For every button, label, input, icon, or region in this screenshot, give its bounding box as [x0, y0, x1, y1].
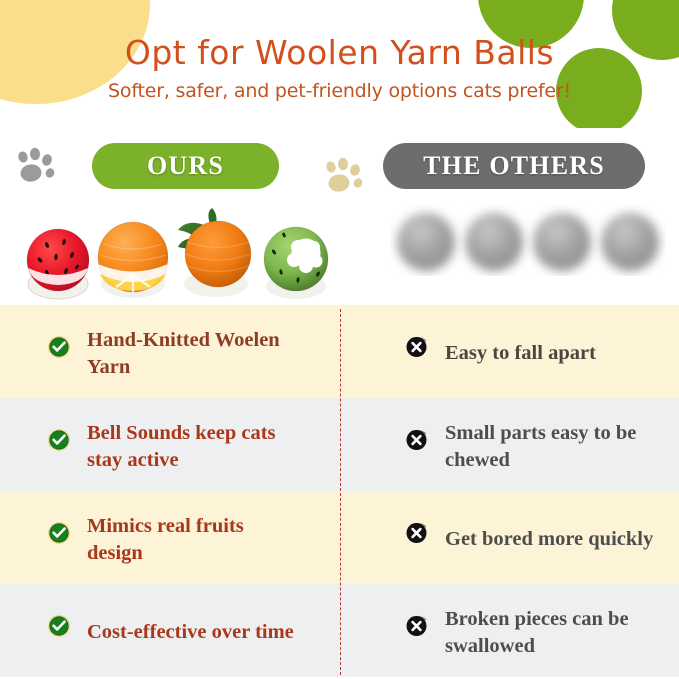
ours-cell: Mimics real fruits design [0, 491, 340, 584]
ours-cell: Bell Sounds keep cats stay active [0, 398, 340, 491]
cross-circle-icon [404, 333, 430, 359]
pumpkin-yarn-ball [166, 204, 262, 300]
page-title: Opt for Woolen Yarn Balls [125, 35, 554, 71]
ours-cell-text: Mimics real fruits design [87, 513, 302, 565]
paw-print-icon-left [14, 146, 60, 193]
others-cell-text: Small parts easy to be chewed [445, 420, 660, 472]
others-product-images [390, 204, 660, 276]
cross-circle-icon [404, 519, 430, 545]
cross-circle-icon [404, 426, 430, 452]
badge-ours: OURS [92, 143, 279, 189]
header-text-group: Opt for Woolen Yarn Balls Softer, safer,… [0, 0, 679, 128]
ours-cell: Cost-effective over time [0, 584, 340, 677]
blurred-gray-ball-3 [526, 204, 598, 276]
others-cell: Broken pieces can be swallowed [340, 584, 679, 677]
product-comparison-band: OURS THE OTHERS [0, 128, 679, 305]
badge-the-others: THE OTHERS [383, 143, 645, 189]
ours-cell: Hand-Knitted Woelen Yarn [0, 305, 340, 398]
paw-print-icon-right [322, 156, 368, 203]
comparison-table: Hand-Knitted Woelen Yarn Easy to fall ap… [0, 305, 679, 679]
ours-cell-text: Hand-Knitted Woelen Yarn [87, 327, 302, 379]
page-subtitle: Softer, safer, and pet-friendly options … [108, 80, 571, 103]
blurred-gray-ball-1 [390, 204, 462, 276]
blurred-gray-ball-4 [594, 204, 666, 276]
kiwi-yarn-ball [254, 216, 338, 300]
others-cell: Easy to fall apart [340, 305, 679, 398]
orange-slice-yarn-ball [90, 214, 176, 300]
others-cell-text: Broken pieces can be swallowed [445, 606, 660, 658]
check-circle-icon [46, 612, 72, 638]
cross-circle-icon [404, 612, 430, 638]
blurred-gray-ball-2 [458, 204, 530, 276]
watermelon-yarn-ball [20, 224, 96, 300]
others-cell-text: Get bored more quickly [445, 526, 653, 552]
others-cell: Small parts easy to be chewed [340, 398, 679, 491]
others-cell-text: Easy to fall apart [445, 340, 596, 366]
ours-product-images [20, 204, 332, 300]
ours-cell-text: Cost-effective over time [87, 619, 294, 645]
vertical-dashed-divider [340, 309, 341, 675]
header-banner: Opt for Woolen Yarn Balls Softer, safer,… [0, 0, 679, 128]
check-circle-icon [46, 426, 72, 452]
check-circle-icon [46, 333, 72, 359]
others-cell: Get bored more quickly [340, 491, 679, 584]
check-circle-icon [46, 519, 72, 545]
ours-cell-text: Bell Sounds keep cats stay active [87, 420, 302, 472]
